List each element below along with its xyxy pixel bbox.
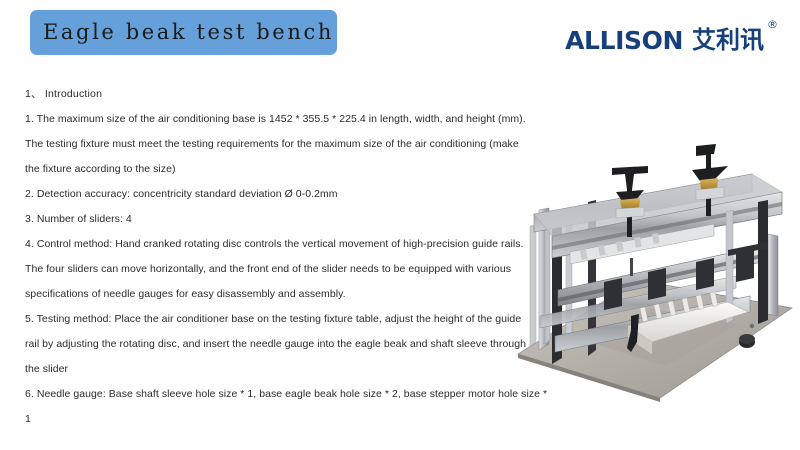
specification-text-block: 1、 Introduction 1. The maximum size of t… [25, 82, 495, 432]
copy-line: 2. Detection accuracy: concentricity sta… [25, 182, 495, 207]
page-title: Eagle beak test bench [43, 22, 334, 43]
frame-post-right-black [758, 200, 768, 324]
crank-mount-left [616, 207, 644, 218]
plate-hole [750, 324, 754, 328]
copy-line: 4. Control method: Hand cranked rotating… [25, 232, 495, 257]
copy-line: 1 [25, 407, 495, 432]
crank-handle-left [612, 166, 648, 190]
copy-line: 3. Number of sliders: 4 [25, 207, 495, 232]
copy-line: the fixture according to the size) [25, 157, 495, 182]
product-photo-test-bench [500, 130, 800, 402]
copy-line: rail by adjusting the rotating disc, and… [25, 332, 495, 357]
frame-brace-left-a [530, 225, 536, 346]
copy-line: The testing fixture must meet the testin… [25, 132, 495, 157]
copy-line: specifications of needle gauges for easy… [25, 282, 495, 307]
frame-post-rear-right [768, 234, 778, 316]
slider-3 [696, 258, 714, 290]
brand-name-latin: ALLISON [565, 28, 683, 53]
copy-line: the slider [25, 357, 495, 382]
crank-disc-right [692, 166, 728, 181]
page-title-banner: Eagle beak test bench [30, 10, 337, 55]
test-bench-illustration [500, 130, 800, 402]
slider-2 [648, 268, 666, 300]
slider-1 [604, 278, 622, 310]
copy-line: 1、 Introduction [25, 82, 495, 107]
copy-line: 5. Testing method: Place the air conditi… [25, 307, 495, 332]
slider-4 [736, 250, 754, 282]
copy-line: 6. Needle gauge: Base shaft sleeve hole … [25, 382, 495, 407]
crank-handle-right [696, 144, 716, 170]
cable-connector [630, 258, 633, 276]
brand-logo: ALLISON 艾利讯 ® [565, 28, 778, 53]
copy-line: The four sliders can move horizontally, … [25, 257, 495, 282]
brand-name-cjk: 艾利讯 [692, 28, 764, 52]
plate-knob-top [739, 334, 755, 344]
copy-line: 1. The maximum size of the air condition… [25, 107, 495, 132]
registered-trademark-icon: ® [767, 19, 778, 30]
